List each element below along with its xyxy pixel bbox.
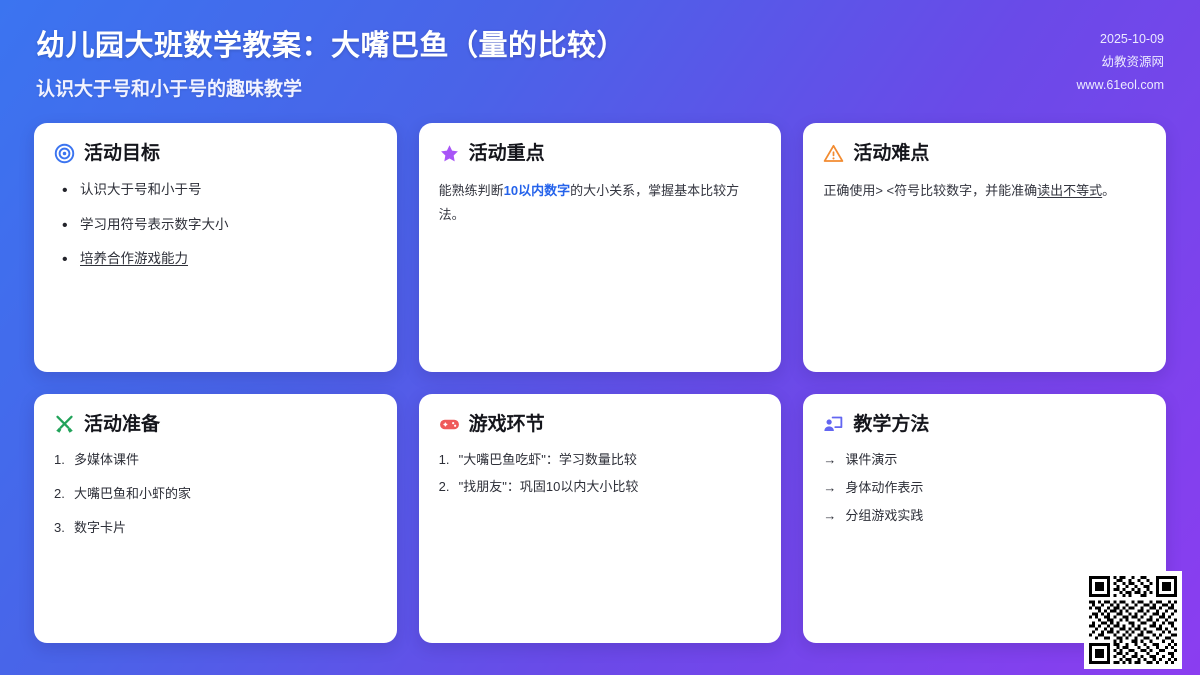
gamepad-icon	[439, 414, 460, 435]
list-item: 学习用符号表示数字大小	[54, 214, 377, 236]
card-title: 游戏环节	[469, 415, 545, 434]
objective-underlined: 培养合作游戏能力	[80, 251, 188, 266]
card-game-session: 游戏环节 "大嘴巴鱼吃虾"：学习数量比较 "找朋友"：巩固10以内大小比较	[419, 394, 782, 643]
preparation-list: 多媒体课件 大嘴巴鱼和小虾的家 数字卡片	[54, 450, 377, 551]
meta-site-name: 幼教资源网	[1076, 51, 1164, 74]
text-highlight: 10以内数字	[504, 183, 570, 198]
card-difficulties: 活动难点 正确使用> <符号比较数字，并能准确读出不等式。	[803, 123, 1166, 372]
card-header: 活动准备	[54, 414, 377, 435]
list-item: 多媒体课件	[54, 450, 377, 471]
card-objectives: 活动目标 认识大于号和小于号 学习用符号表示数字大小 培养合作游戏能力	[34, 123, 397, 372]
meta-site-url: www.61eol.com	[1076, 74, 1164, 97]
list-item: 课件演示	[823, 450, 1146, 471]
card-preparation: 活动准备 多媒体课件 大嘴巴鱼和小虾的家 数字卡片	[34, 394, 397, 643]
objectives-list: 认识大于号和小于号 学习用符号表示数字大小 培养合作游戏能力	[54, 179, 377, 283]
header-meta: 2025-10-09 幼教资源网 www.61eol.com	[1076, 28, 1164, 97]
page-title: 幼儿园大班数学教案：大嘴巴鱼（量的比较）	[36, 28, 626, 64]
target-icon	[54, 143, 75, 164]
list-item: 分组游戏实践	[823, 506, 1146, 527]
star-icon	[439, 143, 460, 164]
header: 幼儿园大班数学教案：大嘴巴鱼（量的比较） 认识大于号和小于号的趣味教学 2025…	[0, 0, 1200, 101]
card-key-points: 活动重点 能熟练判断10以内数字的大小关系，掌握基本比较方法。	[419, 123, 782, 372]
card-header: 活动目标	[54, 143, 377, 164]
game-session-list: "大嘴巴鱼吃虾"：学习数量比较 "找朋友"：巩固10以内大小比较	[439, 450, 762, 504]
list-item: 认识大于号和小于号	[54, 179, 377, 201]
card-title: 教学方法	[853, 415, 929, 434]
key-points-text: 能熟练判断10以内数字的大小关系，掌握基本比较方法。	[439, 179, 762, 227]
list-item: 培养合作游戏能力	[54, 248, 377, 270]
teaching-icon	[823, 414, 844, 435]
qr-code-container	[1084, 571, 1182, 669]
card-grid: 活动目标 认识大于号和小于号 学习用符号表示数字大小 培养合作游戏能力 活动重点…	[0, 101, 1200, 675]
text-before: 能熟练判断	[439, 183, 504, 198]
card-title: 活动准备	[84, 415, 160, 434]
text-underline: 读出不等式	[1037, 183, 1102, 198]
card-title: 活动重点	[469, 144, 545, 163]
poster-root: 幼儿园大班数学教案：大嘴巴鱼（量的比较） 认识大于号和小于号的趣味教学 2025…	[0, 0, 1200, 675]
list-item: 身体动作表示	[823, 478, 1146, 499]
difficulties-text: 正确使用> <符号比较数字，并能准确读出不等式。	[823, 179, 1146, 203]
meta-date: 2025-10-09	[1076, 28, 1164, 51]
card-title: 活动目标	[84, 144, 160, 163]
list-item: "找朋友"：巩固10以内大小比较	[439, 477, 762, 498]
list-item: "大嘴巴鱼吃虾"：学习数量比较	[439, 450, 762, 471]
teaching-methods-list: 课件演示 身体动作表示 分组游戏实践	[823, 450, 1146, 533]
page-subtitle: 认识大于号和小于号的趣味教学	[36, 74, 626, 101]
tools-icon	[54, 414, 75, 435]
list-item: 大嘴巴鱼和小虾的家	[54, 484, 377, 505]
text-after: 。	[1102, 183, 1115, 198]
card-header: 教学方法	[823, 414, 1146, 435]
qr-code	[1089, 576, 1177, 664]
header-left: 幼儿园大班数学教案：大嘴巴鱼（量的比较） 认识大于号和小于号的趣味教学	[36, 28, 626, 101]
warning-icon	[823, 143, 844, 164]
text-before: 正确使用> <符号比较数字，并能准确	[823, 183, 1037, 198]
card-header: 活动重点	[439, 143, 762, 164]
list-item: 数字卡片	[54, 518, 377, 539]
card-title: 活动难点	[853, 144, 929, 163]
card-header: 活动难点	[823, 143, 1146, 164]
card-header: 游戏环节	[439, 414, 762, 435]
